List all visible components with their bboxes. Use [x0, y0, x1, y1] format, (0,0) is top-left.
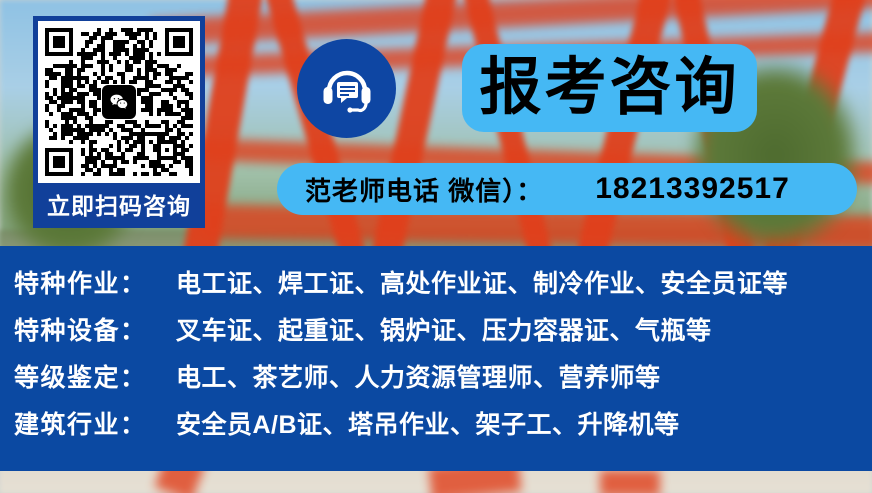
category-items: 电工证、焊工证、高处作业证、制冷作业、安全员证等	[176, 264, 788, 300]
category-label: 特种作业：	[14, 264, 176, 300]
page-title: 报考咨询	[462, 44, 757, 132]
contact-bar[interactable]: 范老师电话 微信）： 18213392517	[277, 163, 857, 215]
promo-poster: 立即扫码咨询 报考咨询 范老师电话 微信）： 18213392517	[0, 0, 872, 493]
list-item: 建筑行业： 安全员A/B证、塔吊作业、架子工、升降机等	[14, 405, 872, 452]
crane-beam	[600, 470, 660, 493]
category-label: 等级鉴定：	[14, 358, 176, 394]
category-label: 建筑行业：	[14, 405, 176, 441]
category-items: 电工、茶艺师、人力资源管理师、营养师等	[176, 358, 661, 394]
qr-code-image[interactable]	[38, 21, 200, 183]
category-items: 叉车证、起重证、锅炉证、压力容器证、气瓶等	[176, 311, 712, 347]
contact-number[interactable]: 18213392517	[595, 172, 790, 206]
page-title-text: 报考咨询	[479, 57, 739, 119]
category-label: 特种设备：	[14, 311, 176, 347]
list-item: 特种作业： 电工证、焊工证、高处作业证、制冷作业、安全员证等	[14, 264, 872, 311]
certification-list-panel: 特种作业： 电工证、焊工证、高处作业证、制冷作业、安全员证等 特种设备： 叉车证…	[0, 246, 872, 471]
contact-label: 范老师电话 微信）：	[305, 171, 543, 208]
qr-code-card[interactable]: 立即扫码咨询	[33, 16, 205, 228]
category-items: 安全员A/B证、塔吊作业、架子工、升降机等	[176, 405, 680, 441]
list-item: 等级鉴定： 电工、茶艺师、人力资源管理师、营养师等	[14, 358, 872, 405]
headset-support-icon	[297, 39, 396, 138]
list-item: 特种设备： 叉车证、起重证、锅炉证、压力容器证、气瓶等	[14, 311, 872, 358]
wechat-logo-icon	[102, 85, 136, 119]
qr-caption: 立即扫码咨询	[47, 183, 191, 225]
